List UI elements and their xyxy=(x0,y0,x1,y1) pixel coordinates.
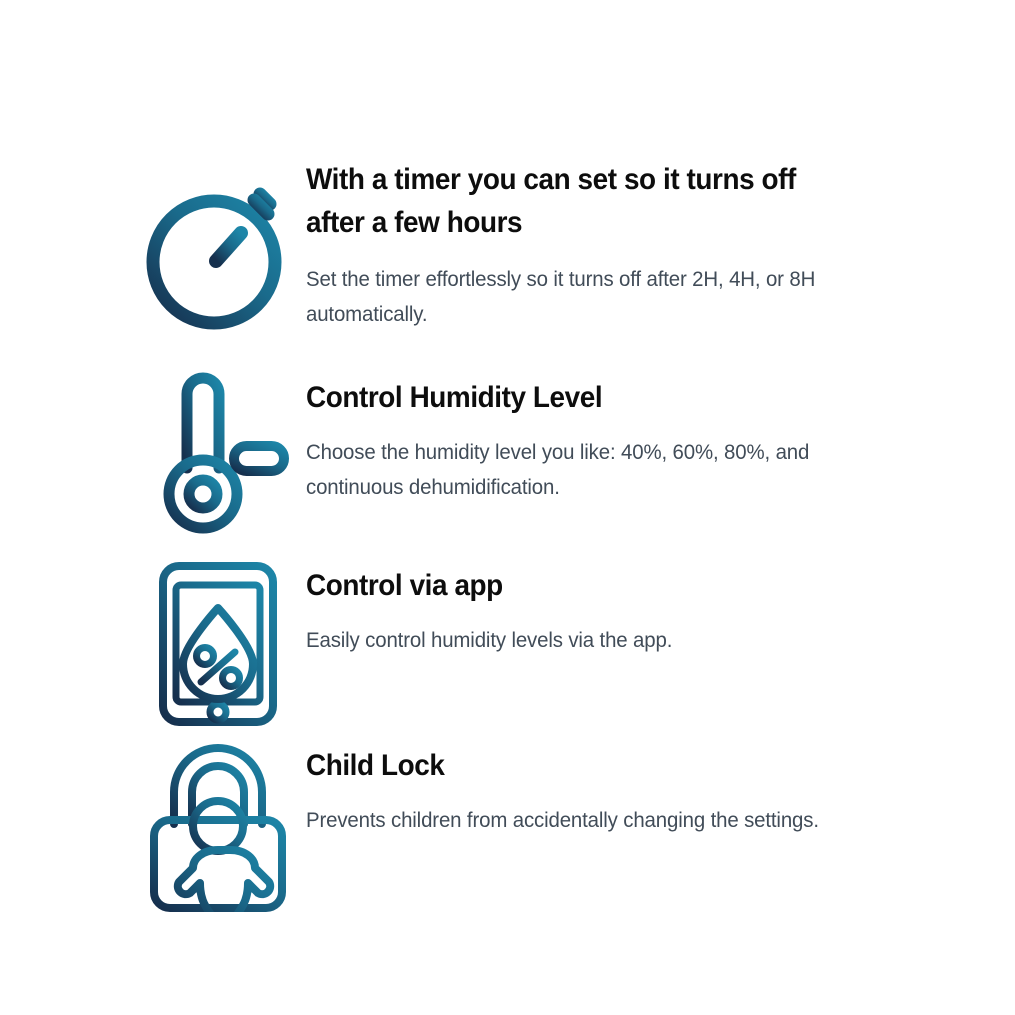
thermometer-humidity-slider-icon xyxy=(130,370,306,542)
feature-text-app-control: Control via app Easily control humidity … xyxy=(306,558,890,658)
feature-title: Control Humidity Level xyxy=(306,376,849,419)
feature-title: With a timer you can set so it turns off… xyxy=(306,158,849,244)
feature-description: Set the timer effortlessly so it turns o… xyxy=(306,262,824,332)
feature-title: Child Lock xyxy=(306,744,849,787)
feature-text-humidity-level: Control Humidity Level Choose the humidi… xyxy=(306,370,890,505)
feature-description: Prevents children from accidentally chan… xyxy=(306,803,819,838)
feature-description: Choose the humidity level you like: 40%,… xyxy=(306,435,838,505)
padlock-child-lock-icon xyxy=(130,738,306,912)
feature-item-child-lock: Child Lock Prevents children from accide… xyxy=(130,738,890,912)
smartphone-humidity-droplet-icon xyxy=(130,558,306,728)
feature-item-humidity-level: Control Humidity Level Choose the humidi… xyxy=(130,370,890,542)
feature-item-app-control: Control via app Easily control humidity … xyxy=(130,558,890,728)
feature-description: Easily control humidity levels via the a… xyxy=(306,623,857,658)
feature-list-page: With a timer you can set so it turns off… xyxy=(0,0,1015,1015)
feature-text-child-lock: Child Lock Prevents children from accide… xyxy=(306,738,890,838)
stopwatch-timer-icon xyxy=(130,152,306,334)
feature-title: Control via app xyxy=(306,564,849,607)
feature-text-timer: With a timer you can set so it turns off… xyxy=(306,152,890,332)
feature-item-timer: With a timer you can set so it turns off… xyxy=(130,152,890,334)
